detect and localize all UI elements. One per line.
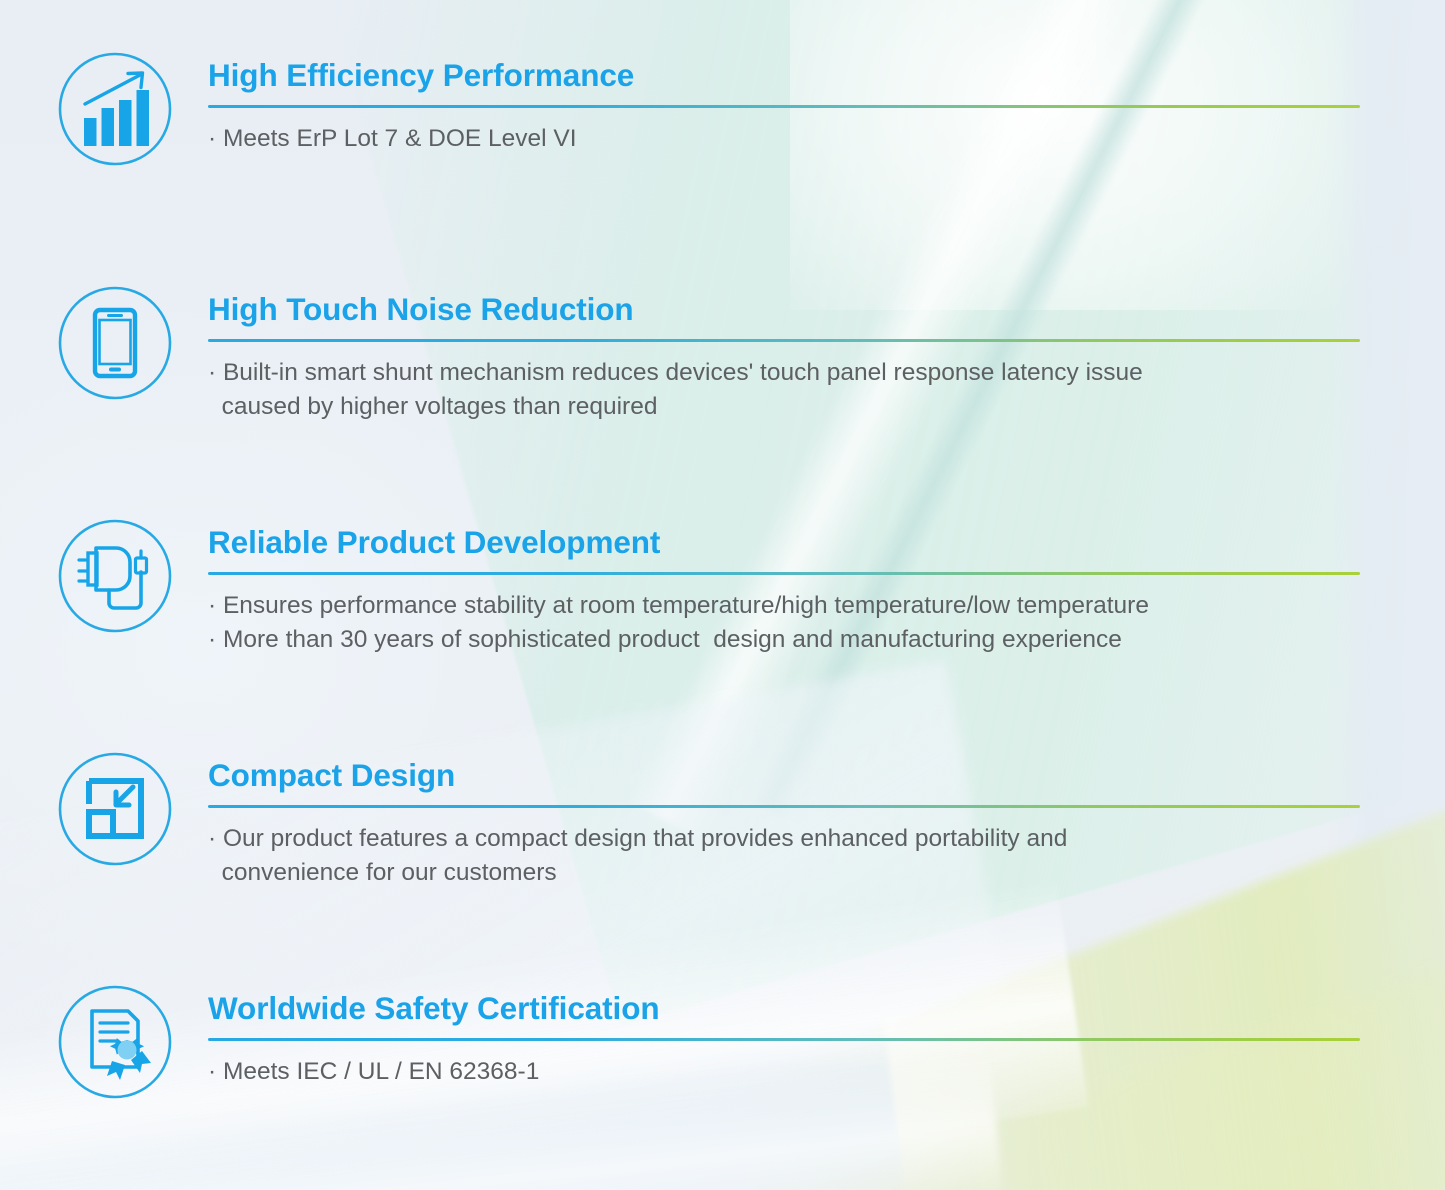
feature-bullet-line: · Meets IEC / UL / EN 62368-1	[208, 1055, 1360, 1089]
feature-divider	[208, 1038, 1360, 1041]
feature-divider	[208, 339, 1360, 342]
feature-item-high-efficiency-performance: High Efficiency Performance · Meets ErP …	[54, 48, 1360, 170]
feature-divider	[208, 572, 1360, 575]
feature-divider	[208, 105, 1360, 108]
feature-bullet-line: · Built-in smart shunt mechanism reduces…	[208, 356, 1360, 390]
feature-bullet-line: convenience for our customers	[208, 856, 1360, 890]
smartphone-icon	[54, 282, 176, 404]
feature-body: Worldwide Safety Certification · Meets I…	[176, 981, 1360, 1089]
feature-item-compact-design: Compact Design · Our product features a …	[54, 748, 1360, 890]
feature-divider	[208, 805, 1360, 808]
feature-item-high-touch-noise-reduction: High Touch Noise Reduction · Built-in sm…	[54, 282, 1360, 424]
feature-title: High Efficiency Performance	[208, 58, 1360, 93]
feature-bullet-line: · Ensures performance stability at room …	[208, 589, 1360, 623]
feature-bullets: · Meets ErP Lot 7 & DOE Level VI	[208, 122, 1360, 156]
feature-title: Reliable Product Development	[208, 525, 1360, 560]
feature-title: High Touch Noise Reduction	[208, 292, 1360, 327]
feature-body: High Touch Noise Reduction · Built-in sm…	[176, 282, 1360, 424]
feature-list: High Efficiency Performance · Meets ErP …	[0, 0, 1445, 1190]
feature-body: Compact Design · Our product features a …	[176, 748, 1360, 890]
certificate-seal-icon	[54, 981, 176, 1103]
feature-title: Compact Design	[208, 758, 1360, 793]
feature-body: High Efficiency Performance · Meets ErP …	[176, 48, 1360, 156]
feature-bullet-line: caused by higher voltages than required	[208, 390, 1360, 424]
feature-body: Reliable Product Development · Ensures p…	[176, 515, 1360, 657]
feature-bullets: · Our product features a compact design …	[208, 822, 1360, 890]
feature-bullets: · Built-in smart shunt mechanism reduces…	[208, 356, 1360, 424]
feature-bullets: · Meets IEC / UL / EN 62368-1	[208, 1055, 1360, 1089]
feature-bullet-line: · Our product features a compact design …	[208, 822, 1360, 856]
feature-title: Worldwide Safety Certification	[208, 991, 1360, 1026]
compact-resize-icon	[54, 748, 176, 870]
feature-item-reliable-product-development: Reliable Product Development · Ensures p…	[54, 515, 1360, 657]
power-adapter-icon	[54, 515, 176, 637]
feature-bullets: · Ensures performance stability at room …	[208, 589, 1360, 657]
feature-bullet-line: · More than 30 years of sophisticated pr…	[208, 623, 1360, 657]
feature-bullet-line: · Meets ErP Lot 7 & DOE Level VI	[208, 122, 1360, 156]
bar-chart-growth-icon	[54, 48, 176, 170]
feature-item-worldwide-safety-certification: Worldwide Safety Certification · Meets I…	[54, 981, 1360, 1103]
